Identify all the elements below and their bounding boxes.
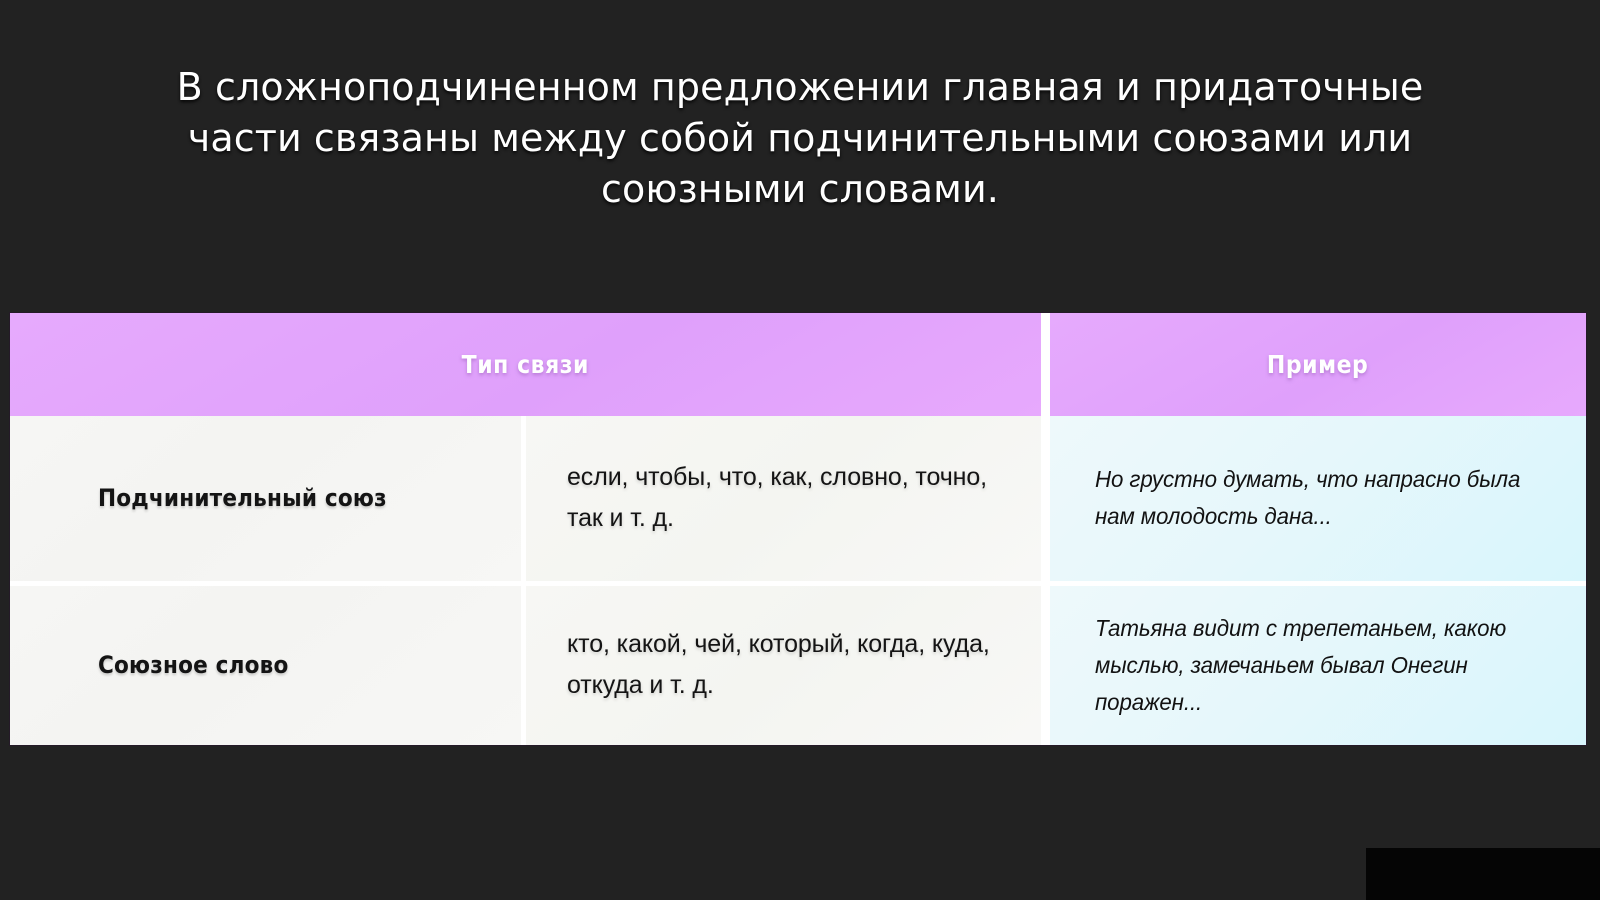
cell-connection-type: Союзное слово	[10, 581, 521, 746]
cell-conjunction-list: кто, какой, чей, который, когда, куда, о…	[526, 581, 1041, 746]
title-line-1: В сложноподчиненном предложении главная …	[100, 62, 1500, 113]
table-header-label-type: Тип связи	[462, 350, 589, 379]
table-rows: Подчинительный союз если, чтобы, что, ка…	[10, 416, 1586, 745]
cell-example: Татьяна видит с трепетаньем, какою мысль…	[1050, 581, 1586, 746]
connection-types-table: Тип связи Пример Подчинительный союз есл…	[10, 313, 1586, 745]
table-header-cell-example: Пример	[1050, 313, 1586, 416]
conjunction-list-text: если, чтобы, что, как, словно, точно, та…	[567, 457, 1021, 539]
conjunction-list-text: кто, какой, чей, который, когда, куда, о…	[567, 624, 1021, 706]
table-body-wrapper: Тип связи Пример Подчинительный союз есл…	[10, 313, 1586, 745]
table-row: Союзное слово кто, какой, чей, который, …	[10, 581, 1586, 746]
cell-conjunction-list: если, чтобы, что, как, словно, точно, та…	[526, 416, 1041, 581]
table-header-row: Тип связи Пример	[10, 313, 1586, 416]
example-text: Но грустно думать, что напрасно была нам…	[1095, 461, 1548, 535]
connection-type-label: Подчинительный союз	[98, 484, 387, 512]
title-line-2: части связаны между собой подчинительным…	[100, 113, 1500, 164]
cell-connection-type: Подчинительный союз	[10, 416, 521, 581]
table-header-label-example: Пример	[1267, 350, 1368, 379]
slide-title: В сложноподчиненном предложении главная …	[0, 62, 1600, 215]
table-header-cell-type: Тип связи	[10, 313, 1041, 416]
bottom-right-black-panel	[1366, 848, 1600, 900]
connection-type-label: Союзное слово	[98, 651, 288, 679]
example-text: Татьяна видит с трепетаньем, какою мысль…	[1095, 610, 1548, 721]
table-row: Подчинительный союз если, чтобы, что, ка…	[10, 416, 1586, 581]
cell-example: Но грустно думать, что напрасно была нам…	[1050, 416, 1586, 581]
title-line-3: союзными словами.	[100, 164, 1500, 215]
